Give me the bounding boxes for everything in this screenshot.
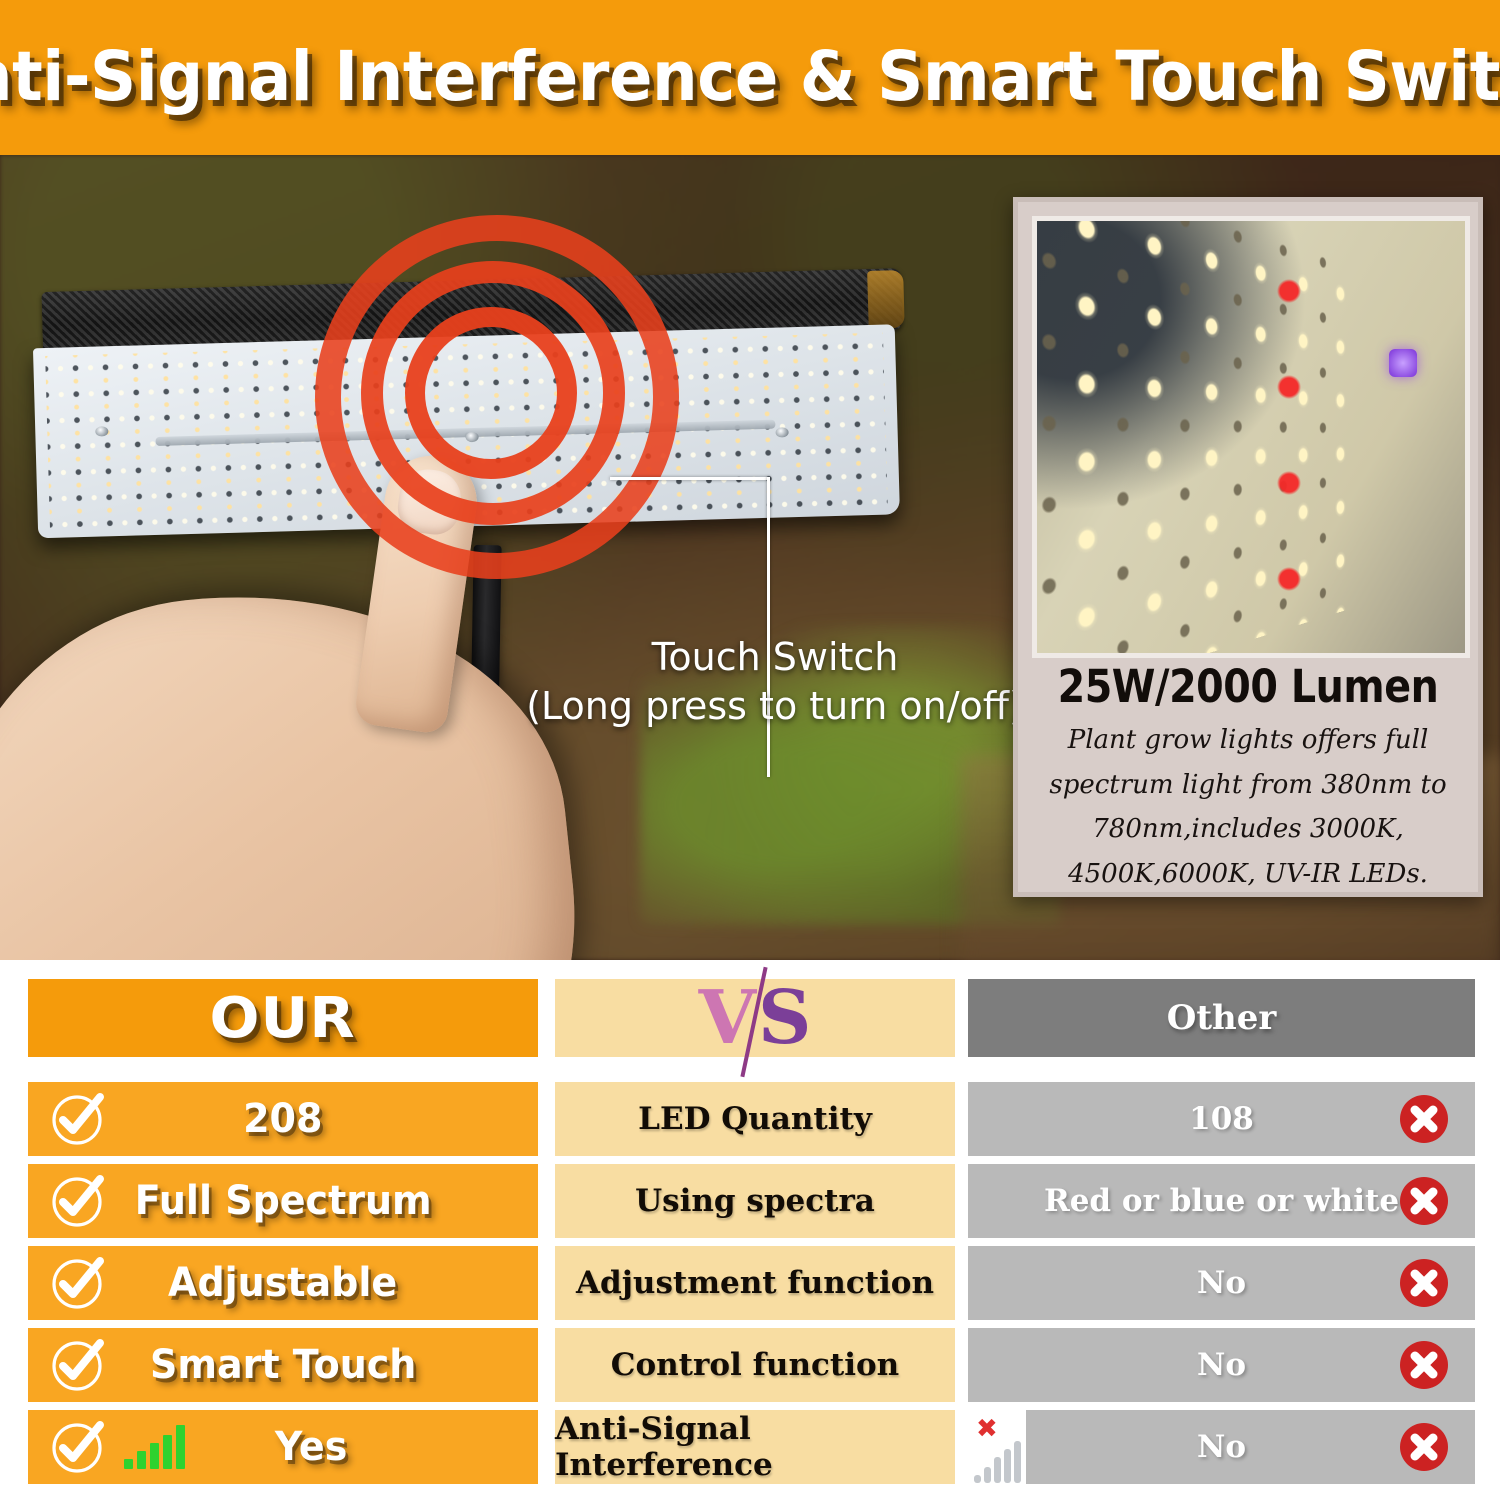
callout-line-2: (Long press to turn on/off) [515, 682, 1035, 731]
signal-bars-green-icon [124, 1425, 185, 1469]
x-circle-icon [1399, 1176, 1449, 1226]
our-cell: Full Spectrum [28, 1164, 538, 1238]
led-red-column [1269, 243, 1305, 643]
our-value: Full Spectrum [135, 1178, 432, 1224]
other-cell: No [968, 1328, 1475, 1402]
feature-label-cell: Adjustment function [555, 1246, 955, 1320]
x-circle-icon [1399, 1340, 1449, 1390]
check-circle-icon [50, 1091, 106, 1147]
spec-card-title: 25W/2000 Lumen [1046, 660, 1451, 713]
feature-label: Adjustment function [576, 1265, 934, 1301]
our-cell: Smart Touch [28, 1328, 538, 1402]
our-cell: Adjustable [28, 1246, 538, 1320]
header-our-label: OUR [210, 986, 356, 1051]
table-row: 208 LED Quantity 108 [0, 1082, 1500, 1156]
table-row: Full Spectrum Using spectra Red or blue … [0, 1164, 1500, 1238]
feature-label: Using spectra [635, 1183, 875, 1219]
check-circle-icon [50, 1419, 106, 1475]
ripple-ring-inner [405, 307, 577, 479]
x-circle-icon [1399, 1422, 1449, 1472]
banner-title: Anti-Signal Interference & Smart Touch S… [0, 43, 1500, 112]
feature-label-cell: Using spectra [555, 1164, 955, 1238]
header-banner: Anti-Signal Interference & Smart Touch S… [0, 0, 1500, 155]
header-other-label: Other [1167, 998, 1277, 1038]
vs-icon: V S [670, 980, 840, 1056]
table-row: Adjustable Adjustment function No [0, 1246, 1500, 1320]
header-cell-other: Other [968, 979, 1475, 1057]
product-infographic: Anti-Signal Interference & Smart Touch S… [0, 0, 1500, 1484]
our-cell: 208 [28, 1082, 538, 1156]
other-value: No [1197, 1265, 1246, 1301]
callout-leader-horizontal [610, 477, 770, 480]
our-value: Smart Touch [150, 1342, 416, 1388]
table-row: Smart Touch Control function No [0, 1328, 1500, 1402]
led-uv-diode [1389, 349, 1417, 377]
our-value: Yes [275, 1424, 347, 1470]
our-cell: Yes [28, 1410, 538, 1484]
touch-switch-callout: Touch Switch (Long press to turn on/off) [515, 633, 1035, 730]
other-cell: 108 [968, 1082, 1475, 1156]
callout-line-1: Touch Switch [515, 633, 1035, 682]
blocked-bars [974, 1441, 1021, 1483]
touch-ripple-icon [315, 215, 635, 535]
other-value: Red or blue or white [1044, 1183, 1399, 1219]
comparison-table: OUR V S Other 208 LED Qua [0, 965, 1500, 1484]
feature-label-cell: Control function [555, 1328, 955, 1402]
check-circle-icon [50, 1337, 106, 1393]
other-value: No [1197, 1347, 1246, 1383]
check-circle-icon [50, 1255, 106, 1311]
hero-photo: Touch Switch (Long press to turn on/off)… [0, 155, 1500, 960]
spec-card: 25W/2000 Lumen Plant grow lights offers … [1013, 197, 1483, 897]
our-value: Adjustable [168, 1260, 397, 1306]
callout-leader-vertical [767, 477, 770, 777]
spec-card-description: Plant grow lights offers full spectrum l… [1040, 718, 1456, 897]
table-header-row: OUR V S Other [0, 979, 1500, 1057]
vs-letter-s: S [758, 981, 811, 1055]
header-cell-vs: V S [555, 979, 955, 1057]
feature-label-cell: LED Quantity [555, 1082, 955, 1156]
other-value: 108 [1189, 1101, 1254, 1137]
feature-label: Anti-Signal Interference [555, 1411, 955, 1483]
feature-label: LED Quantity [638, 1101, 872, 1137]
header-cell-our: OUR [28, 979, 538, 1057]
led-closeup-photo [1032, 216, 1470, 658]
other-cell: No [968, 1246, 1475, 1320]
table-row: Yes Anti-Signal Interference ✖ No [0, 1410, 1500, 1484]
other-value: No [1197, 1429, 1246, 1465]
feature-label-cell: Anti-Signal Interference [555, 1410, 955, 1484]
signal-bars-blocked-icon: ✖ [968, 1410, 1026, 1489]
x-circle-icon [1399, 1094, 1449, 1144]
feature-label: Control function [611, 1347, 899, 1383]
check-circle-icon [50, 1173, 106, 1229]
x-circle-icon [1399, 1258, 1449, 1308]
our-value: 208 [243, 1096, 322, 1142]
other-cell: ✖ No [968, 1410, 1475, 1484]
small-x-icon: ✖ [976, 1416, 998, 1442]
other-cell: Red or blue or white [968, 1164, 1475, 1238]
